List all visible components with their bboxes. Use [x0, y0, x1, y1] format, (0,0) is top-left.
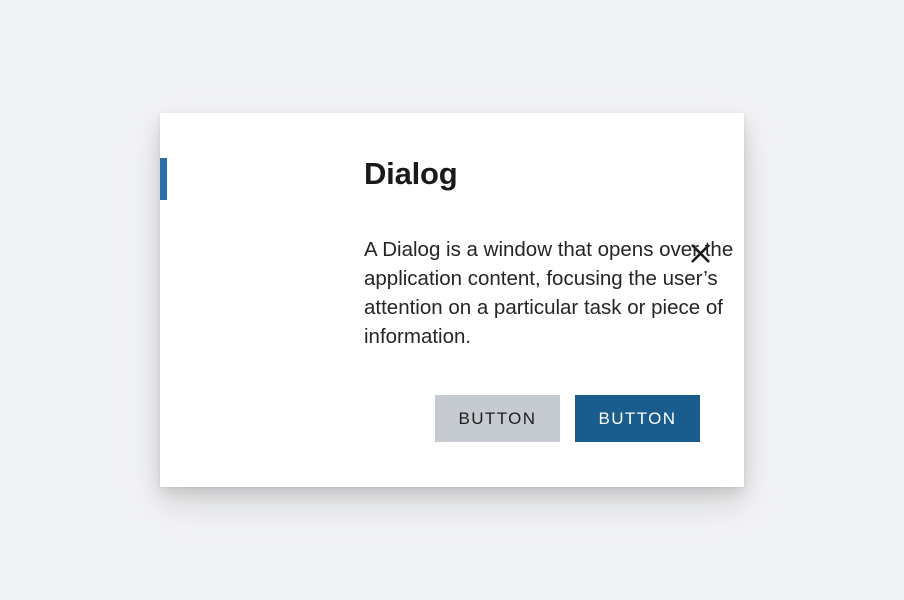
secondary-button[interactable]: BUTTON — [435, 395, 560, 442]
dialog-title: Dialog — [364, 152, 458, 196]
primary-button[interactable]: BUTTON — [575, 395, 700, 442]
accent-bar — [160, 158, 167, 200]
dialog: Dialog A Dialog is a window that opens o… — [160, 113, 744, 487]
page-root: Dialog A Dialog is a window that opens o… — [0, 0, 904, 600]
dialog-actions: BUTTON BUTTON — [160, 395, 744, 442]
dialog-header: Dialog — [160, 158, 744, 220]
dialog-body-text: A Dialog is a window that opens over the… — [364, 235, 788, 351]
